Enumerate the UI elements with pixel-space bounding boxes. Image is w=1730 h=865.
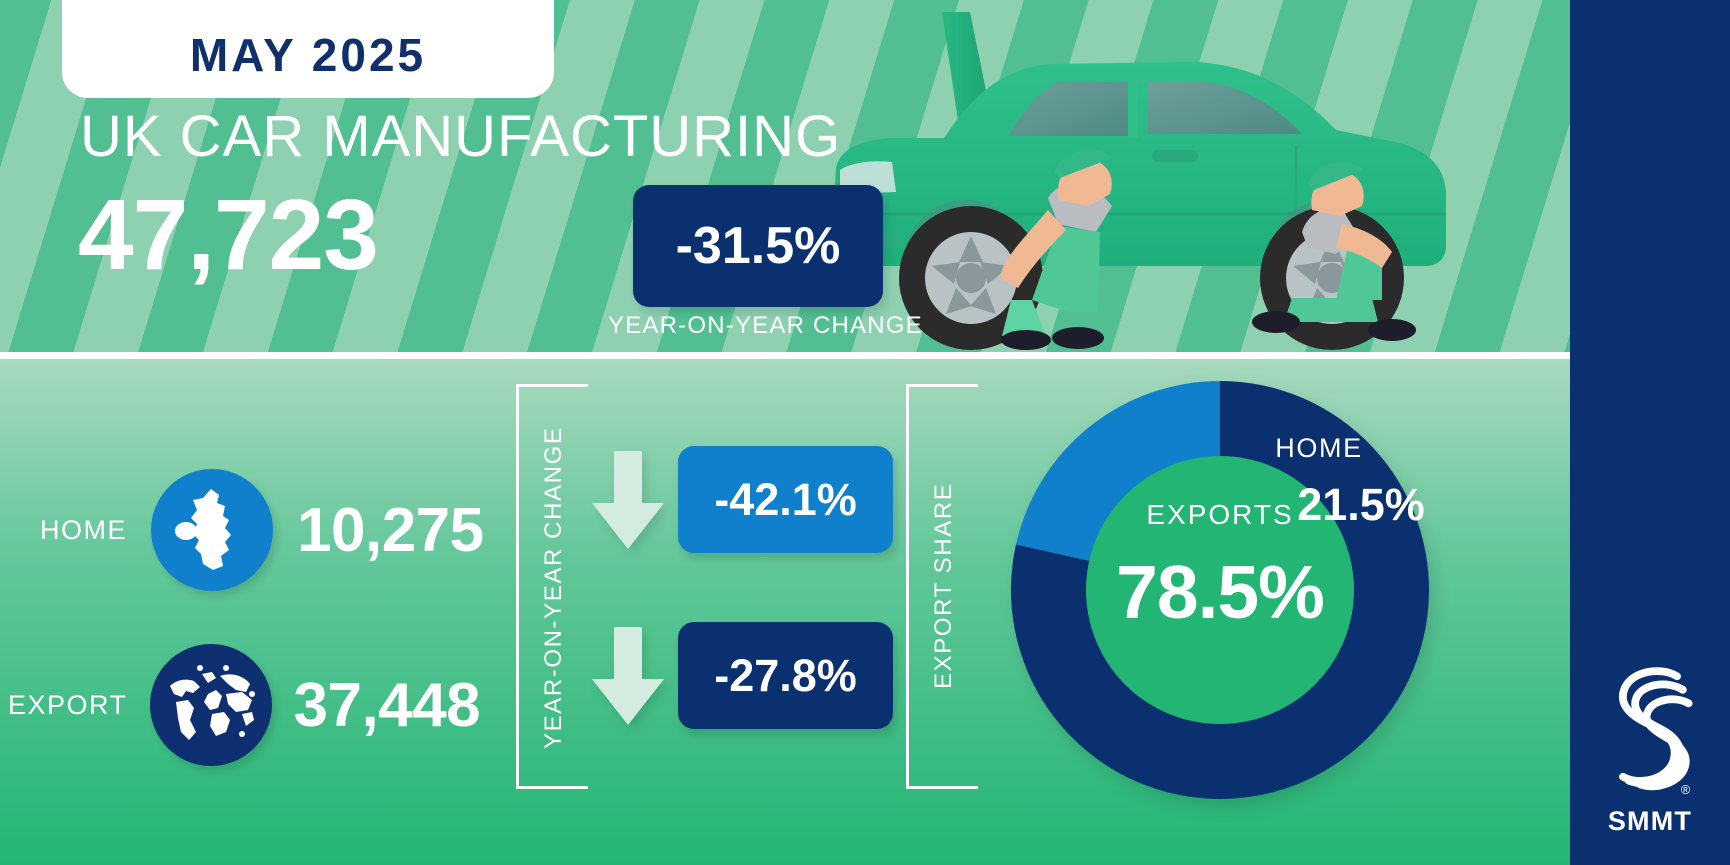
home-yoy-value: -42.1% xyxy=(714,474,857,526)
smmt-s-logo-icon: ® xyxy=(1604,655,1696,800)
month-label: MAY 2025 xyxy=(190,28,426,82)
stat-row-export: EXPORT xyxy=(8,644,480,766)
yoy-bracket-caption: YEAR-ON-YEAR CHANGE xyxy=(540,427,568,749)
arrow-down-icon-home xyxy=(592,451,664,549)
svg-text:®: ® xyxy=(1681,783,1691,797)
lower-panel: HOME 10,275 EXPORT xyxy=(0,359,1593,865)
header-divider xyxy=(0,352,1593,359)
smmt-wordmark: SMMT xyxy=(1608,806,1692,837)
donut-home-label: HOME xyxy=(1219,433,1419,464)
month-pill: MAY 2025 xyxy=(62,0,554,98)
stat-value-export: 37,448 xyxy=(294,670,481,741)
smmt-logo: ® SMMT xyxy=(1570,655,1730,837)
export-share-caption: EXPORT SHARE xyxy=(930,483,958,689)
donut-exports-value: 78.5% xyxy=(1011,549,1429,635)
export-yoy-value: -27.8% xyxy=(714,650,857,702)
stat-row-home: HOME 10,275 xyxy=(40,469,484,591)
uk-map-icon xyxy=(151,469,273,591)
stat-label-export: EXPORT xyxy=(8,690,128,721)
globe-icon xyxy=(150,644,272,766)
total-yoy-badge: -31.5% xyxy=(633,185,883,307)
total-yoy-value: -31.5% xyxy=(676,216,841,276)
home-yoy-badge: -42.1% xyxy=(678,446,893,553)
header-band: MAY 2025 UK CAR MANUFACTURING 47,723 -31… xyxy=(0,0,1593,352)
infographic-root: MAY 2025 UK CAR MANUFACTURING 47,723 -31… xyxy=(0,0,1730,865)
brand-rail: ® SMMT xyxy=(1570,0,1730,865)
donut-home-value: 21.5% xyxy=(1261,479,1461,531)
stat-value-home: 10,275 xyxy=(297,495,484,566)
stat-label-home: HOME xyxy=(40,515,127,546)
export-yoy-badge: -27.8% xyxy=(678,622,893,729)
arrow-down-icon-export xyxy=(592,627,664,725)
total-production-value: 47,723 xyxy=(78,185,378,285)
page-title: UK CAR MANUFACTURING xyxy=(80,103,841,170)
total-yoy-caption: YEAR-ON-YEAR CHANGE xyxy=(608,312,923,340)
export-share-donut-chart: EXPORTS 78.5% HOME 21.5% xyxy=(1011,381,1429,799)
